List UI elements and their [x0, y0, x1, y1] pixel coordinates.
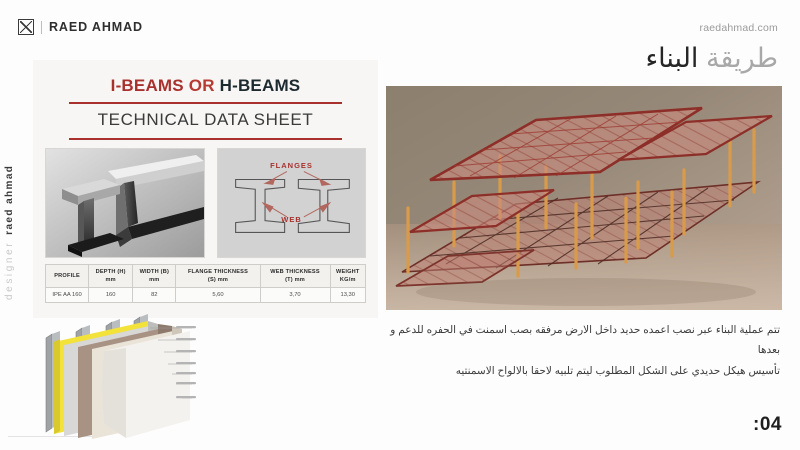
- brand-logo[interactable]: RAED AHMAD: [18, 19, 143, 35]
- caption-line-1: تتم عملية البناء عبر نصب اعمده حديد داخل…: [376, 320, 780, 361]
- datasheet-rule-bottom: [69, 138, 342, 140]
- diagram-web-label: WEB: [281, 215, 302, 224]
- table-row: IPE AA 160 160 82 5,60 3,70 13,30: [46, 288, 366, 303]
- datasheet-figures: FLANGES WEB: [45, 148, 366, 258]
- datasheet-subheading: TECHNICAL DATA SHEET: [33, 110, 378, 130]
- page-number: :04: [753, 414, 782, 436]
- table-col-depth: DEPTH (H) mm: [89, 265, 133, 288]
- datasheet-rule-top: [69, 102, 342, 104]
- brand-divider: [41, 21, 42, 34]
- cell-profile: IPE AA 160: [46, 288, 89, 303]
- datasheet-heading-part3: H-BEAMS: [220, 76, 301, 95]
- table-col-weight: WEIGHT KG/m: [330, 265, 365, 288]
- designer-credit: designer raed ahmad: [4, 165, 15, 300]
- designer-role-label: designer: [4, 241, 15, 300]
- brand-name-label: RAED AHMAD: [49, 20, 143, 34]
- cell-web-thickness: 3,70: [260, 288, 330, 303]
- cell-width: 82: [133, 288, 176, 303]
- datasheet-heading-part2: OR: [189, 76, 215, 95]
- caption-line-2: تأسيس هيكل حديدي على الشكل المطلوب ليتم …: [376, 361, 780, 381]
- monogram-logo-icon: [18, 19, 34, 35]
- datasheet-heading-part1: I-BEAMS: [111, 76, 184, 95]
- diagram-flanges-label: FLANGES: [270, 161, 313, 170]
- cell-flange-thickness: 5,60: [176, 288, 260, 303]
- website-url-label: raedahmad.com: [700, 22, 778, 34]
- table-col-flange-thickness: FLANGE THICKNESS (S) mm: [176, 265, 260, 288]
- page-title-strong-word: البناء: [645, 43, 698, 73]
- cell-weight: 13,30: [330, 288, 365, 303]
- wall-section-art: [30, 312, 198, 444]
- table-col-web-thickness: WEB THICKNESS (T) mm: [260, 265, 330, 288]
- datasheet-heading: I-BEAMS OR H-BEAMS: [33, 76, 378, 96]
- slide-canvas: RAED AHMAD raedahmad.com طريقة البناء de…: [0, 0, 800, 450]
- table-col-profile: PROFILE: [46, 265, 89, 288]
- beam-cross-section-diagram: FLANGES WEB: [217, 148, 366, 258]
- table-header-row: PROFILE DEPTH (H) mm WIDTH (B) mm FLANGE…: [46, 265, 366, 288]
- technical-datasheet-card: I-BEAMS OR H-BEAMS TECHNICAL DATA SHEET: [33, 60, 378, 318]
- table-col-width: WIDTH (B) mm: [133, 265, 176, 288]
- structure-3d-art: [386, 86, 782, 310]
- designer-name-label: raed ahmad: [4, 165, 15, 235]
- steel-beam-photo-art: [46, 149, 204, 257]
- beam-specs-table: PROFILE DEPTH (H) mm WIDTH (B) mm FLANGE…: [45, 264, 366, 303]
- slide-caption: تتم عملية البناء عبر نصب اعمده حديد داخل…: [376, 320, 780, 381]
- steel-beam-photo: [45, 148, 205, 258]
- page-title-soft-word: طريقة: [706, 43, 778, 73]
- cell-depth: 160: [89, 288, 133, 303]
- wall-section-illustration: [30, 312, 198, 444]
- structure-3d-render: [386, 86, 782, 310]
- page-title: طريقة البناء: [645, 42, 778, 76]
